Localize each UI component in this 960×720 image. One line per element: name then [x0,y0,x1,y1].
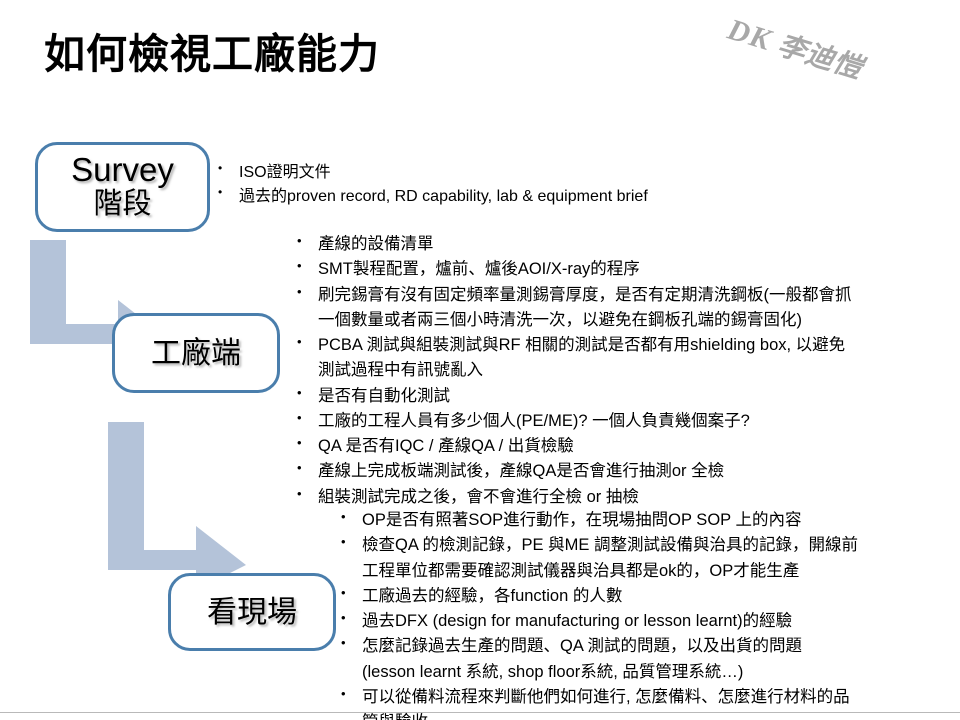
bullet-block-onsite: OP是否有照著SOP進行動作，在現場抽問OP SOP 上的內容檢查QA 的檢測記… [338,508,944,720]
bullet-item: SMT製程配置，爐前、爐後AOI/X-ray的程序 [294,257,940,281]
bullet-item: 怎麼記錄過去生產的問題、QA 測試的問題，以及出貨的問題 [338,634,944,658]
bullet-item: PCBA 測試與組裝測試與RF 相關的測試是否都有用shielding box,… [294,333,940,357]
bullet-item: 可以從備料流程來判斷他們如何進行, 怎麼備料、怎麼進行材料的品 [338,685,944,709]
elbow-arrow-factory-to-onsite [108,422,248,592]
bullet-item: 刷完錫膏有沒有固定頻率量測錫膏厚度，是否有定期清洗鋼板(一般都會抓 [294,283,940,307]
watermark-latin-text: DK [724,13,775,57]
bullet-item: 工程單位都需要確認測試儀器與治具都是ok的，OP才能生產 [338,559,944,583]
slide-canvas: DK 李迪愷 如何檢視工廠能力 Survey 階段 工廠端 看現場 ISO證明文… [0,0,960,720]
watermark-cjk-text: 李迪愷 [774,28,867,85]
bullet-list-survey: ISO證明文件過去的proven record, RD capability, … [215,161,915,208]
watermark: DK 李迪愷 [709,8,955,161]
bullet-item: 一個數量或者兩三個小時清洗一次，以避免在鋼板孔端的錫膏固化) [294,308,940,332]
stage-survey-label-line2: 階段 [93,188,151,221]
stage-survey-label-line1: Survey [71,153,174,188]
bullet-item: 組裝測試完成之後，會不會進行全檢 or 抽檢 [294,485,940,509]
stage-box-factory[interactable]: 工廠端 [112,313,280,393]
bullet-list-factory: 產線的設備清單SMT製程配置，爐前、爐後AOI/X-ray的程序刷完錫膏有沒有固… [294,232,940,509]
bullet-item: 管與驗收 [338,710,944,720]
bullet-item: 測試過程中有訊號亂入 [294,358,940,382]
bullet-item: 工廠的工程人員有多少個人(PE/ME)? 一個人負責幾個案子? [294,409,940,433]
bullet-item: 是否有自動化測試 [294,384,940,408]
bullet-item: ISO證明文件 [215,161,915,184]
bullet-item: 檢查QA 的檢測記錄，PE 與ME 調整測試設備與治具的記錄，開線前 [338,533,944,557]
bullet-item: (lesson learnt 系統, shop floor系統, 品質管理系統…… [338,660,944,684]
bullet-item: 產線的設備清單 [294,232,940,256]
bullet-item: 過去DFX (design for manufacturing or lesso… [338,609,944,633]
bullet-item: 過去的proven record, RD capability, lab & e… [215,185,915,208]
stage-box-survey[interactable]: Survey 階段 [35,142,210,232]
bullet-item: OP是否有照著SOP進行動作，在現場抽問OP SOP 上的內容 [338,508,944,532]
bullet-item: 工廠過去的經驗，各function 的人數 [338,584,944,608]
bullet-item: 產線上完成板端測試後，產線QA是否會進行抽測or 全檢 [294,459,940,483]
bullet-item: QA 是否有IQC / 產線QA / 出貨檢驗 [294,434,940,458]
bullet-list-onsite: OP是否有照著SOP進行動作，在現場抽問OP SOP 上的內容檢查QA 的檢測記… [338,508,944,720]
bullet-block-factory: 產線的設備清單SMT製程配置，爐前、爐後AOI/X-ray的程序刷完錫膏有沒有固… [294,232,940,510]
stage-onsite-label: 看現場 [207,596,297,629]
bullet-block-survey: ISO證明文件過去的proven record, RD capability, … [215,161,915,209]
stage-factory-label: 工廠端 [151,337,241,370]
stage-box-onsite[interactable]: 看現場 [168,573,336,651]
page-title: 如何檢視工廠能力 [44,29,380,80]
